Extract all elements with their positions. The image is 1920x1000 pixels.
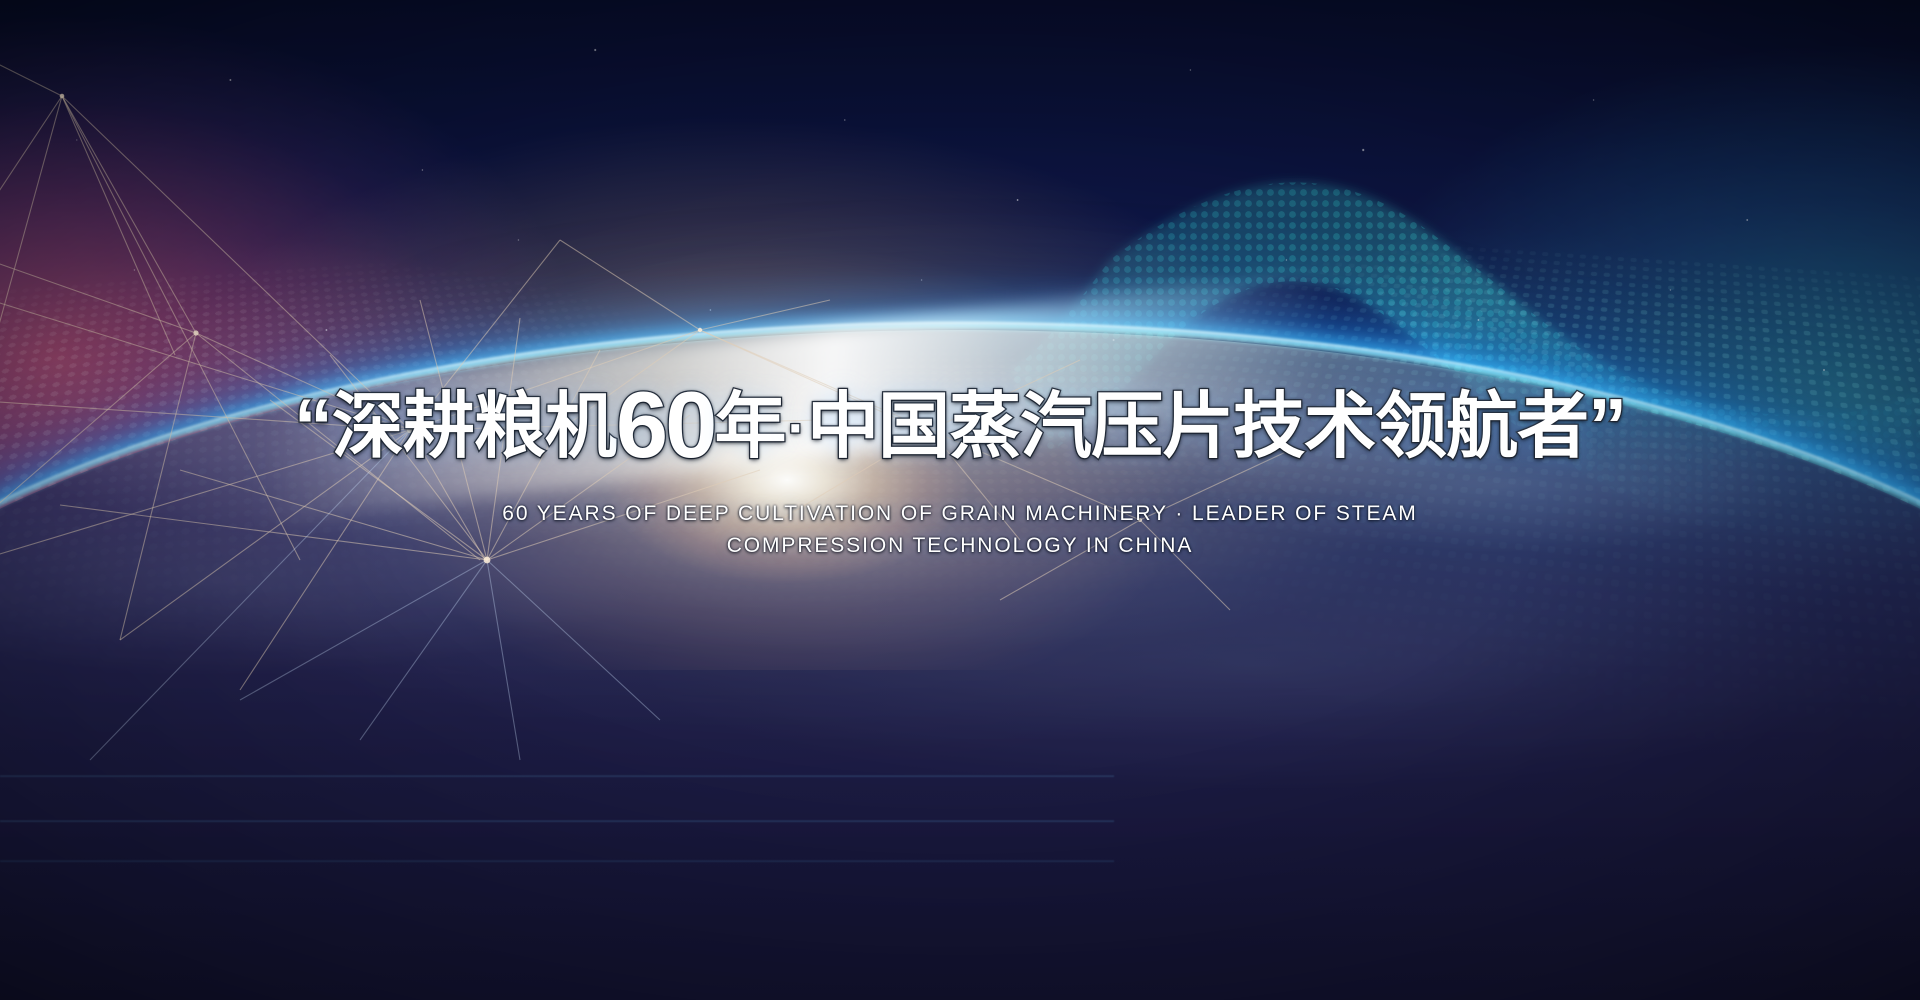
headline-number-60: 60 — [616, 372, 715, 477]
subtitle-line-2: COMPRESSION TECHNOLOGY IN CHINA — [0, 530, 1920, 562]
hero-banner: “深耕粮机60年·中国蒸汽压片技术领航者” 60 YEARS OF DEEP C… — [0, 0, 1920, 1000]
banner-subtitle: 60 YEARS OF DEEP CULTIVATION OF GRAIN MA… — [0, 498, 1920, 562]
opening-quote: “ — [294, 382, 332, 470]
subtitle-line-1: 60 YEARS OF DEEP CULTIVATION OF GRAIN MA… — [502, 502, 1417, 525]
headline-part-2: 年 — [714, 387, 785, 467]
headline-separator: · — [785, 396, 807, 459]
banner-headline: “深耕粮机60年·中国蒸汽压片技术领航者” — [0, 378, 1920, 472]
banner-text-block: “深耕粮机60年·中国蒸汽压片技术领航者” 60 YEARS OF DEEP C… — [0, 378, 1920, 562]
headline-part-1: 深耕粮机 — [332, 387, 616, 467]
closing-quote: ” — [1588, 382, 1626, 470]
headline-part-3: 中国蒸汽压片技术领航者 — [807, 387, 1588, 467]
